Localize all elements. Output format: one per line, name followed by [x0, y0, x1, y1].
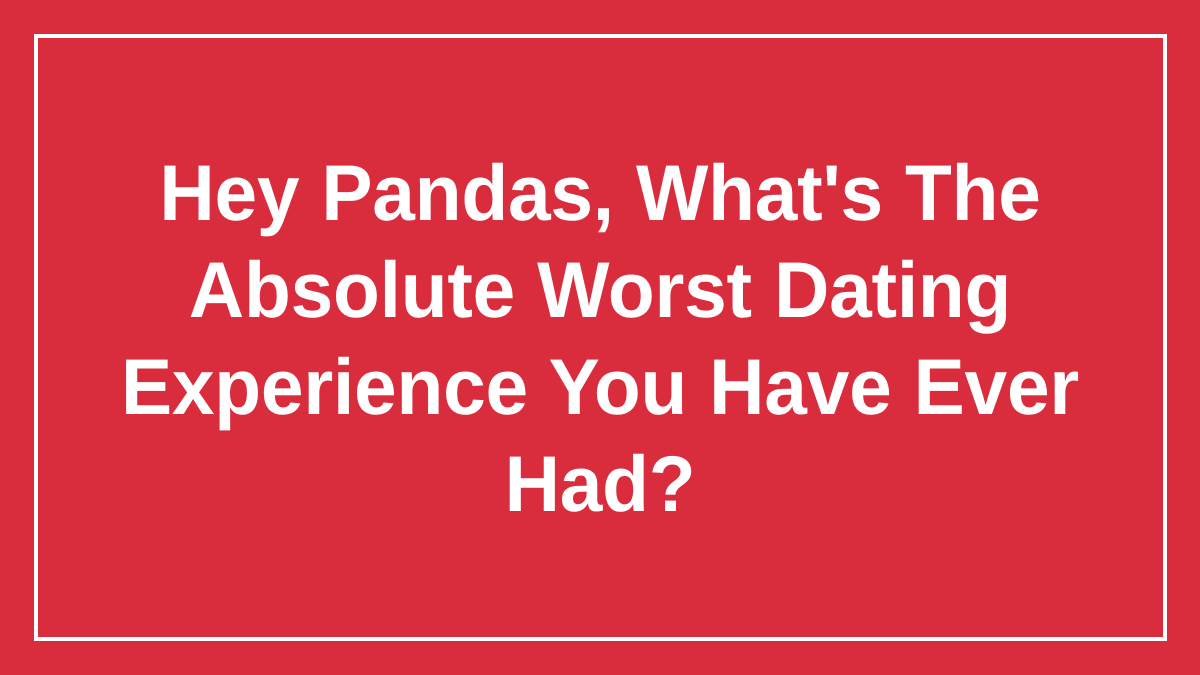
page-title: Hey Pandas, What's The Absolute Worst Da…	[110, 144, 1090, 532]
poster-canvas: Hey Pandas, What's The Absolute Worst Da…	[0, 0, 1200, 675]
headline-container: Hey Pandas, What's The Absolute Worst Da…	[0, 0, 1200, 675]
